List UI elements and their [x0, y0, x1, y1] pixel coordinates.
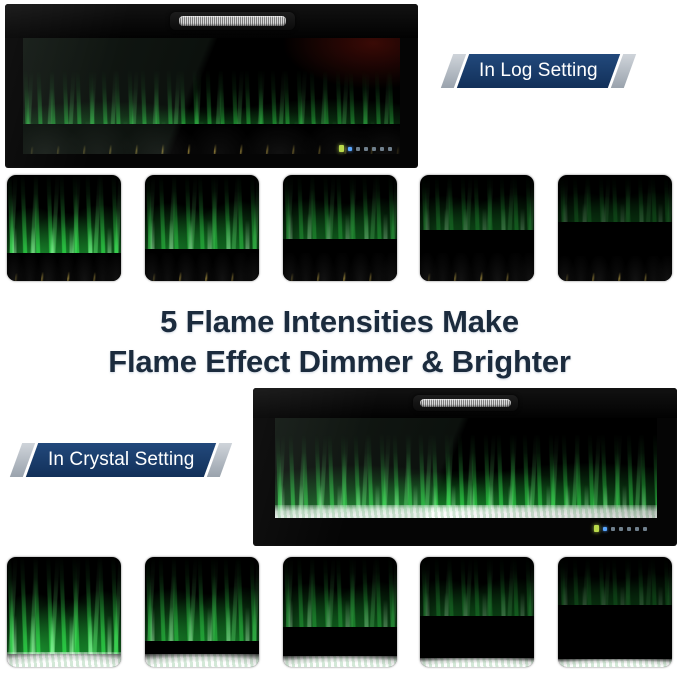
banner-label: In Log Setting [479, 60, 598, 82]
thumbnail-log-intensity-4[interactable] [145, 175, 259, 281]
headline-line-2: Flame Effect Dimmer & Brighter [0, 342, 679, 382]
handle-grille [420, 399, 510, 407]
status-led-3 [364, 147, 368, 151]
flame-hot-core [145, 218, 259, 249]
crystal-ember-bed [420, 658, 534, 667]
banner-body: In Log Setting [457, 54, 620, 88]
flame-display [7, 557, 121, 654]
thumbnail-log-intensity-2[interactable] [420, 175, 534, 281]
flame-hot-core [283, 598, 397, 628]
thumbnail-crystal-intensity-4[interactable] [145, 557, 259, 667]
log-ember-sparks [558, 266, 672, 281]
banner-body: In Crystal Setting [26, 443, 217, 477]
crystal-fireplace [253, 388, 677, 546]
log-ember-bed [420, 253, 534, 281]
banner-label: In Crystal Setting [48, 449, 194, 471]
fireplace-glass-panel [275, 418, 657, 518]
log-ember-bed [145, 253, 259, 281]
flame-display [420, 175, 534, 230]
page-headline: 5 Flame Intensities Make Flame Effect Di… [0, 302, 679, 381]
flame-display [558, 557, 672, 605]
log-fireplace-control-panel[interactable] [339, 145, 392, 152]
log-ember-bed [558, 256, 672, 281]
status-led-6 [643, 527, 647, 531]
flame-display [145, 175, 259, 249]
log-ember-sparks [145, 265, 259, 281]
chrome-heater-vent-handle [413, 395, 518, 411]
flame-display [283, 175, 397, 239]
crystal-ember-bed [7, 652, 121, 667]
status-led-1 [348, 147, 352, 151]
banner-log-setting: In Log Setting [447, 54, 630, 88]
banner-crystal-setting: In Crystal Setting [16, 443, 226, 477]
fireplace-glass-panel [23, 38, 400, 154]
log-intensity-thumbnails [0, 175, 679, 281]
status-led-2 [611, 527, 615, 531]
flame-display [283, 557, 397, 627]
thumbnail-log-intensity-5[interactable] [7, 175, 121, 281]
status-led-4 [627, 527, 631, 531]
log-ember-bed [283, 253, 397, 281]
status-led-2 [356, 147, 360, 151]
log-fireplace [5, 4, 418, 168]
thumbnail-crystal-intensity-3[interactable] [283, 557, 397, 667]
flame-display [7, 175, 121, 262]
crystal-ember-bed [558, 659, 672, 667]
flame-hot-core [558, 585, 672, 605]
headline-line-1: 5 Flame Intensities Make [0, 302, 679, 342]
flame-hot-core [420, 207, 534, 230]
chrome-heater-vent-handle [170, 12, 295, 30]
status-led-5 [380, 147, 384, 151]
handle-grille [179, 16, 287, 25]
thumbnail-log-intensity-3[interactable] [283, 175, 397, 281]
log-ember-sparks [283, 265, 397, 281]
thumbnail-crystal-intensity-1[interactable] [558, 557, 672, 667]
crystal-ember-bed [275, 505, 657, 518]
status-led-1 [603, 527, 607, 531]
flame-hot-core [145, 605, 259, 640]
thumbnail-log-intensity-1[interactable] [558, 175, 672, 281]
log-ember-sparks [420, 265, 534, 281]
flame-display [558, 175, 672, 222]
thumbnail-crystal-intensity-5[interactable] [7, 557, 121, 667]
power-indicator-led [339, 145, 344, 152]
status-led-4 [372, 147, 376, 151]
flame-hot-core [7, 613, 121, 654]
thumbnail-crystal-intensity-2[interactable] [420, 557, 534, 667]
crystal-fireplace-control-panel[interactable] [594, 525, 647, 532]
flame-hot-core [283, 212, 397, 239]
status-led-5 [635, 527, 639, 531]
power-indicator-led [594, 525, 599, 532]
log-ember-sparks [7, 265, 121, 281]
log-ember-bed [7, 253, 121, 281]
crystal-ember-bed [145, 654, 259, 667]
crystal-ember-bed [283, 656, 397, 667]
flame-display [420, 557, 534, 616]
crystal-intensity-thumbnails [0, 557, 679, 667]
status-led-3 [619, 527, 623, 531]
flame-hot-core [558, 202, 672, 222]
flame-hot-core [420, 591, 534, 616]
flame-display [145, 557, 259, 641]
status-led-6 [388, 147, 392, 151]
